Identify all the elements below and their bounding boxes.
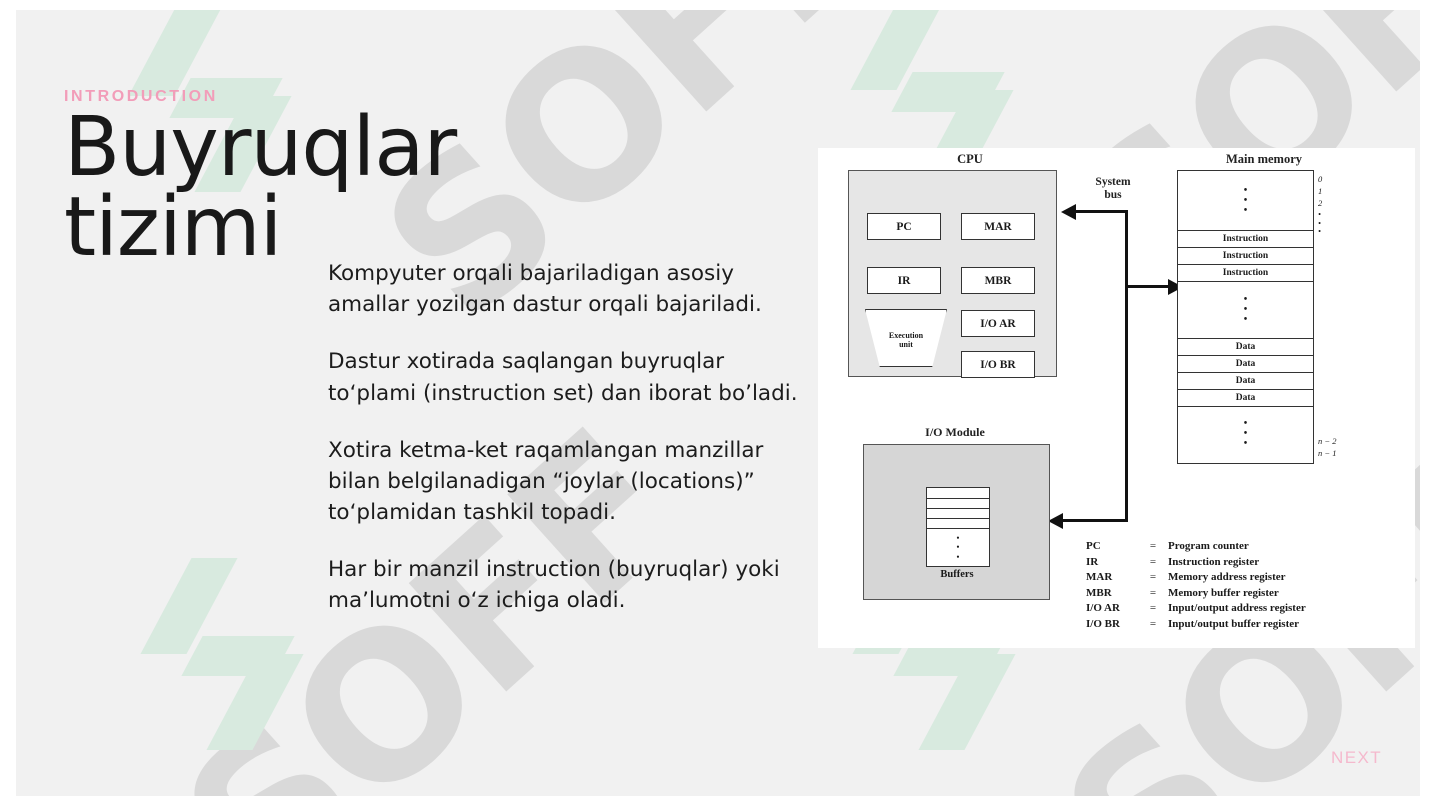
legend-equals: = [1138, 587, 1168, 603]
legend-abbr-mbr: MBR [1086, 587, 1138, 603]
memory-row: Instruction [1178, 265, 1313, 282]
execution-unit: Execution unit [865, 309, 947, 367]
body-paragraph-1: Kompyuter orqali bajariladigan asosiy am… [328, 258, 808, 320]
legend-equals: = [1138, 571, 1168, 587]
slide-canvas: SOFF SOFF SOFF SOFF INTRODUCTION Buyruql… [16, 10, 1420, 796]
buffer-divider [927, 518, 989, 519]
memory-row: ••• [1178, 171, 1313, 231]
register-mbr: MBR [961, 267, 1035, 294]
execution-unit-label: Execution unit [865, 331, 947, 349]
legend-meaning-mar: Memory address register [1168, 571, 1306, 587]
legend-abbr-io-br: I/O BR [1086, 618, 1138, 634]
buffer-divider [927, 528, 989, 529]
memory-address-1: 1 [1318, 186, 1322, 196]
buffer-divider [927, 508, 989, 509]
legend-abbr-ir: IR [1086, 556, 1138, 572]
io-buffers-label: Buffers [904, 569, 1010, 580]
legend-abbr-io-ar: I/O AR [1086, 602, 1138, 618]
system-bus-branch-cpu [1076, 210, 1128, 213]
io-module-box: ••• Buffers [863, 444, 1050, 600]
system-bus-arrow-to-cpu [1061, 204, 1076, 220]
buffer-dots: ••• [927, 534, 989, 562]
memory-row-dots: ••• [1178, 186, 1313, 216]
cpu-box: PC IR MAR MBR I/O AR I/O BR Execution un… [848, 170, 1057, 377]
legend-meaning-pc: Program counter [1168, 540, 1306, 556]
register-mar: MAR [961, 213, 1035, 240]
register-io-ar: I/O AR [961, 310, 1035, 337]
memory-row: Instruction [1178, 248, 1313, 265]
memory-address-n-minus-2: n − 2 [1318, 436, 1337, 446]
system-bus-label-line2: bus [1104, 189, 1121, 201]
legend-equals: = [1138, 602, 1168, 618]
legend-meaning-ir: Instruction register [1168, 556, 1306, 572]
legend-row: MBR = Memory buffer register [1086, 587, 1306, 603]
legend-meaning-io-ar: Input/output address register [1168, 602, 1306, 618]
body-copy: Kompyuter orqali bajariladigan asosiy am… [328, 258, 808, 617]
memory-row-dots: ••• [1178, 419, 1313, 449]
execution-unit-label-line1: Execution [889, 331, 923, 340]
memory-address-n-minus-1: n − 1 [1318, 448, 1337, 458]
cpu-title: CPU [910, 152, 1030, 167]
execution-unit-label-line2: unit [899, 340, 913, 349]
computer-components-diagram: CPU PC IR MAR MBR I/O AR I/O BR Executio… [818, 148, 1415, 648]
main-memory-box: ••• Instruction Instruction Instruction … [1177, 170, 1314, 464]
memory-row: Data [1178, 356, 1313, 373]
legend-meaning-io-br: Input/output buffer register [1168, 618, 1306, 634]
memory-row: Instruction [1178, 231, 1313, 248]
legend-equals: = [1138, 556, 1168, 572]
body-paragraph-4: Har bir manzil instruction (buyruqlar) y… [328, 554, 808, 616]
memory-address-0: 0 [1318, 174, 1322, 184]
body-paragraph-3: Xotira ketma-ket raqamlangan manzillar b… [328, 435, 808, 529]
main-memory-title: Main memory [1174, 152, 1354, 167]
register-pc: PC [867, 213, 941, 240]
system-bus-arrow-to-io [1048, 513, 1063, 529]
legend-equals: = [1138, 540, 1168, 556]
buffer-divider [927, 498, 989, 499]
legend-row: I/O BR = Input/output buffer register [1086, 618, 1306, 634]
io-module-title: I/O Module [880, 425, 1030, 440]
page-title: Buyruqlar tizimi [64, 108, 344, 267]
memory-address-2: 2 [1318, 198, 1322, 208]
memory-row: Data [1178, 390, 1313, 407]
memory-row: Data [1178, 339, 1313, 356]
next-button[interactable]: NEXT [1331, 748, 1382, 768]
memory-row-dots: ••• [1178, 295, 1313, 325]
legend-abbr-mar: MAR [1086, 571, 1138, 587]
io-buffers-box: ••• [926, 487, 990, 567]
memory-row: ••• [1178, 407, 1313, 460]
legend-abbr-pc: PC [1086, 540, 1138, 556]
system-bus-label-line1: System [1095, 176, 1130, 188]
system-bus-branch-memory [1125, 285, 1170, 288]
system-bus-trunk [1125, 210, 1128, 522]
legend-row: I/O AR = Input/output address register [1086, 602, 1306, 618]
legend-row: IR = Instruction register [1086, 556, 1306, 572]
legend-row: MAR = Memory address register [1086, 571, 1306, 587]
legend-row: PC = Program counter [1086, 540, 1306, 556]
memory-row: Data [1178, 373, 1313, 390]
diagram-legend: PC = Program counter IR = Instruction re… [1086, 540, 1306, 633]
register-io-br: I/O BR [961, 351, 1035, 378]
legend-meaning-mbr: Memory buffer register [1168, 587, 1306, 603]
memory-address-dots: ••• [1318, 210, 1321, 236]
register-ir: IR [867, 267, 941, 294]
memory-row: ••• [1178, 282, 1313, 339]
system-bus-branch-io [1063, 519, 1128, 522]
body-paragraph-2: Dastur xotirada saqlangan buyruqlar to‘p… [328, 346, 808, 408]
system-bus-label: System bus [1076, 176, 1150, 202]
legend-equals: = [1138, 618, 1168, 634]
